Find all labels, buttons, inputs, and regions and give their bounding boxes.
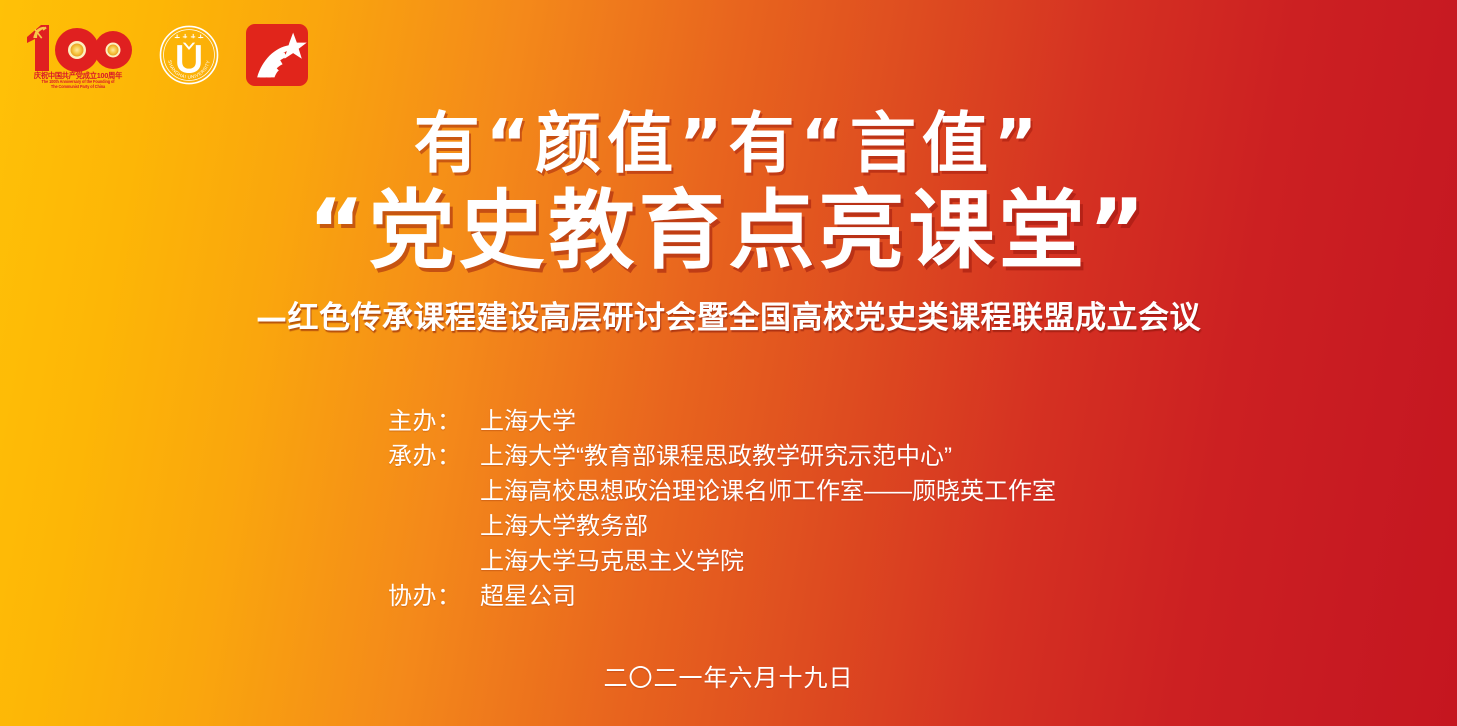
organizer-row: 承办： 上海大学“教育部课程思政教学研究示范中心” (388, 439, 1056, 474)
headline-subtitle: —红色传承课程建设高层研讨会暨全国高校党史类课程联盟成立会议 (0, 292, 1457, 337)
poster-canvas: 庆祝中国共产党成立100周年 The 100th Anniversary of … (0, 0, 1457, 726)
cpc-100-digits-icon (24, 22, 132, 74)
organizer-row: 上海大学马克思主义学院 (388, 544, 1056, 579)
organizer-value: 上海大学马克思主义学院 (480, 544, 1056, 579)
title-line-1: 有“颜值”有“言值” (0, 108, 1457, 179)
chaoxing-logo (246, 24, 308, 86)
organizer-row: 上海大学教务部 (388, 509, 1056, 544)
organizer-label: 主办： (388, 404, 480, 439)
organizer-row: 主办： 上海大学 (388, 404, 1056, 439)
shanghai-university-logo: SHANGHAI UNIVERSITY (158, 24, 220, 86)
headline-block: 有“颜值”有“言值” “党史教育点亮课堂” —红色传承课程建设高层研讨会暨全国高… (0, 108, 1457, 337)
organizer-value: 上海大学教务部 (480, 509, 1056, 544)
organizer-row: 上海高校思想政治理论课名师工作室——顾晓英工作室 (388, 474, 1056, 509)
organizer-value: 上海大学“教育部课程思政教学研究示范中心” (480, 439, 1056, 474)
event-date: 二〇二一年六月十九日 (0, 658, 1457, 693)
cpc-100th-anniversary-logo: 庆祝中国共产党成立100周年 The 100th Anniversary of … (24, 22, 132, 96)
cpc-caption-en-2: The Communist Party of China (29, 85, 128, 90)
organizer-value: 超星公司 (480, 579, 1056, 614)
title-line-2: “党史教育点亮课堂” (0, 183, 1457, 279)
organizer-value: 上海高校思想政治理论课名师工作室——顾晓英工作室 (480, 474, 1056, 509)
organizer-row: 协办： 超星公司 (388, 579, 1056, 614)
chaoxing-star-icon (246, 24, 308, 86)
logo-row: 庆祝中国共产党成立100周年 The 100th Anniversary of … (24, 22, 308, 96)
organizer-block: 主办： 上海大学 承办： 上海大学“教育部课程思政教学研究示范中心” 上海高校思… (388, 404, 1056, 614)
organizer-value: 上海大学 (480, 404, 1056, 439)
organizer-label: 协办： (388, 579, 480, 614)
cpc-logo-caption: 庆祝中国共产党成立100周年 The 100th Anniversary of … (26, 72, 130, 90)
organizer-label: 承办： (388, 439, 480, 474)
